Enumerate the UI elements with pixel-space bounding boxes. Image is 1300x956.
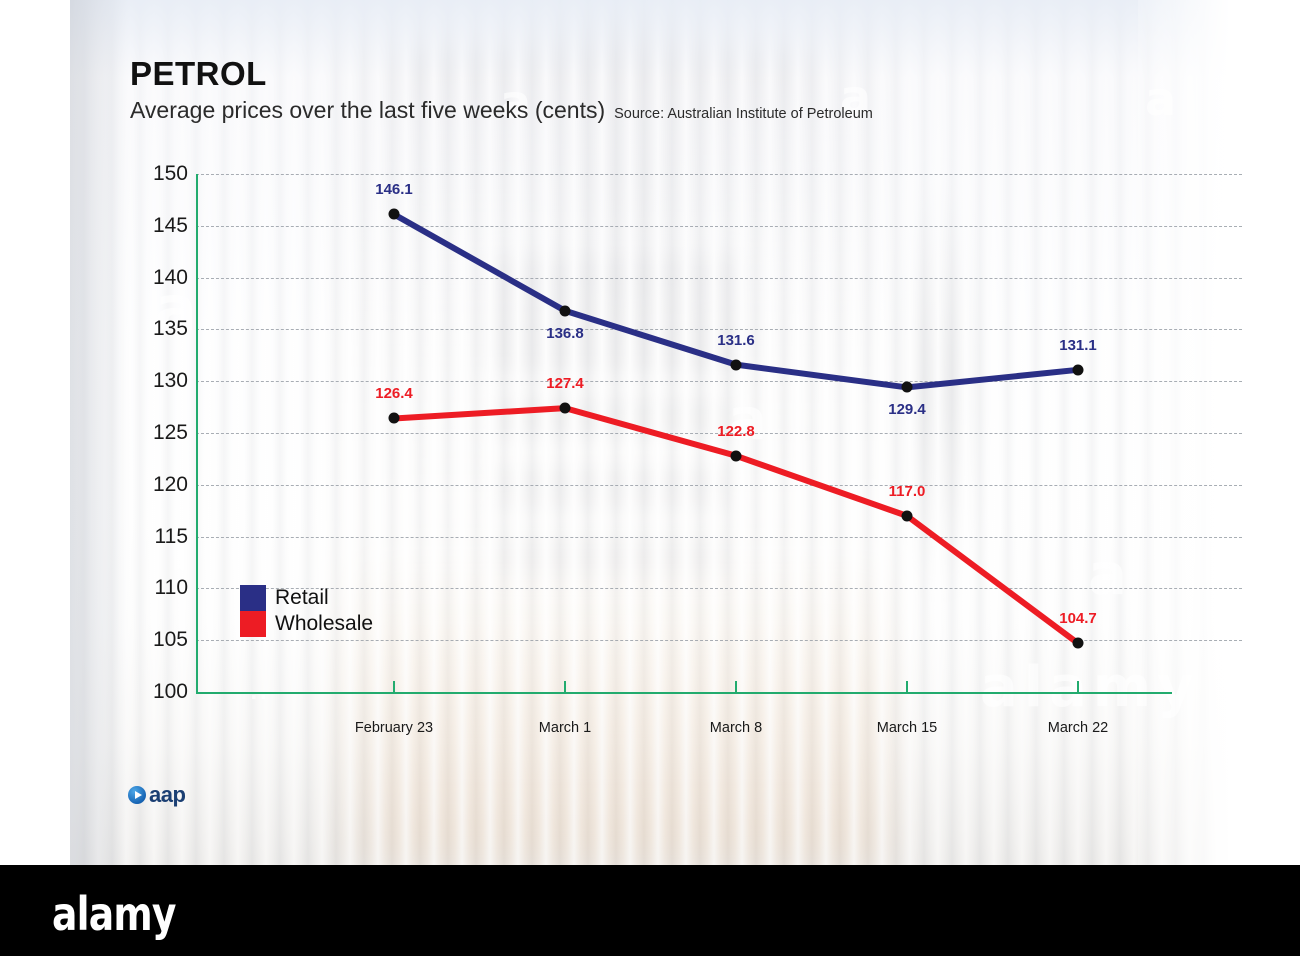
alamy-image-id: Image ID: 2JYCG53	[1158, 890, 1272, 907]
legend-swatch-wholesale	[240, 611, 266, 637]
alamy-watermark-logo: alamy	[52, 887, 176, 941]
alamy-url: www.alamy.com	[1161, 915, 1272, 935]
data-point-label: 117.0	[889, 483, 926, 500]
x-axis-tick-label: March 15	[877, 720, 937, 736]
data-point-label: 104.7	[1059, 610, 1097, 627]
x-axis-tick-label: March 22	[1048, 720, 1108, 736]
play-circle-icon	[128, 786, 146, 804]
data-point	[902, 382, 913, 393]
data-point	[560, 403, 571, 414]
data-point	[560, 305, 571, 316]
data-point-label: 127.4	[546, 375, 584, 392]
page-title: PETROL	[130, 55, 267, 93]
chart-subtitle: Average prices over the last five weeks …	[130, 97, 605, 124]
chart-source: Source: Australian Institute of Petroleu…	[614, 106, 873, 122]
data-point	[389, 209, 400, 220]
data-point	[389, 413, 400, 424]
subtitle-row: Average prices over the last five weeks …	[130, 97, 873, 124]
data-point	[731, 450, 742, 461]
x-axis-tick-label: February 23	[355, 720, 433, 736]
data-point-label: 126.4	[375, 385, 413, 402]
chart-legend: Retail Wholesale	[240, 585, 373, 637]
series-line-wholesale	[394, 408, 1078, 643]
data-point	[1073, 364, 1084, 375]
x-axis-tick-label: March 1	[539, 720, 591, 736]
data-point-label: 136.8	[546, 325, 584, 342]
aap-logo: aap	[128, 782, 185, 808]
data-point-label: 131.6	[717, 332, 755, 349]
data-point	[1073, 638, 1084, 649]
data-point	[902, 510, 913, 521]
legend-label-wholesale: Wholesale	[275, 611, 373, 637]
legend-labels: Retail Wholesale	[275, 585, 373, 637]
data-point-label: 122.8	[717, 423, 755, 440]
legend-swatch-retail	[240, 585, 266, 611]
legend-swatches	[240, 585, 266, 637]
alamy-footer-bar: alamy Image ID: 2JYCG53 www.alamy.com	[0, 865, 1300, 956]
aap-logo-text: aap	[149, 782, 185, 808]
left-vignette	[70, 0, 130, 865]
data-point-label: 129.4	[888, 401, 926, 418]
legend-label-retail: Retail	[275, 585, 373, 611]
x-axis-tick-label: March 8	[710, 720, 762, 736]
data-point-label: 131.1	[1059, 337, 1097, 354]
infographic-root: a a a a l a a alamy .. PETROL Average pr…	[0, 0, 1300, 956]
data-point-label: 146.1	[375, 181, 413, 198]
line-chart: 100105110115120125130135140145150 Februa…	[130, 160, 1130, 720]
data-point	[731, 359, 742, 370]
